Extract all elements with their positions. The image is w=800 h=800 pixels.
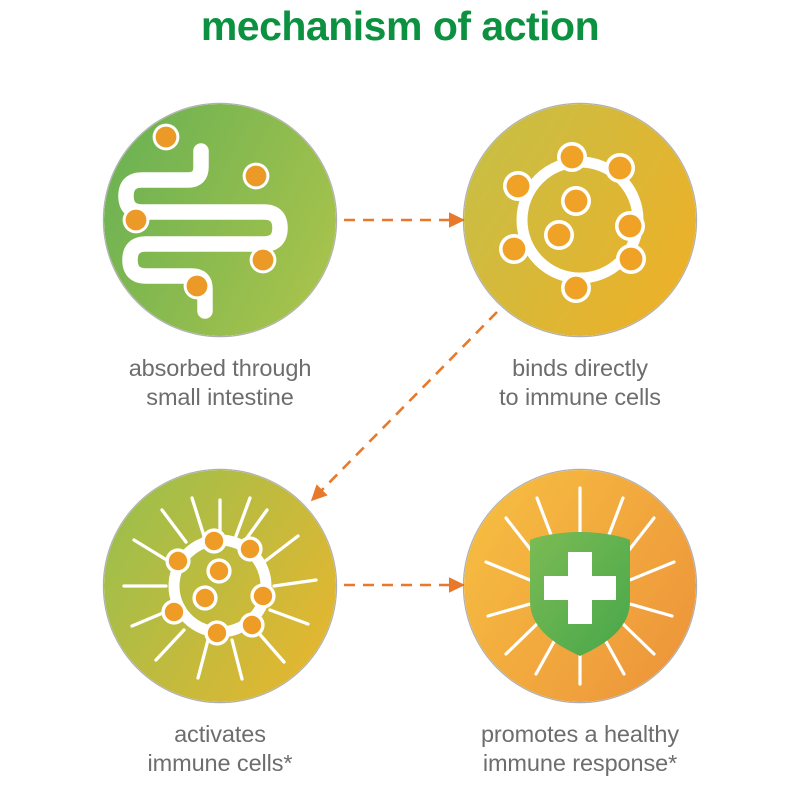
step-activation-circle	[104, 470, 336, 702]
step-immune-response-circle	[464, 470, 696, 702]
step-absorption: absorbed through small intestine	[104, 104, 336, 412]
step-activation: activates immune cells*	[104, 470, 336, 778]
step-immune-response-caption: promotes a healthy immune response*	[430, 720, 730, 778]
immune-cell-receptor-icon	[464, 104, 696, 336]
mechanism-of-action-infographic: mechanism of action	[0, 0, 800, 800]
step-binding-caption: binds directly to immune cells	[464, 354, 696, 412]
page-title: mechanism of action	[0, 0, 800, 50]
step-binding-circle	[464, 104, 696, 336]
small-intestine-icon	[104, 104, 336, 336]
step-absorption-caption: absorbed through small intestine	[104, 354, 336, 412]
activated-immune-cell-icon	[104, 470, 336, 702]
step-binding: binds directly to immune cells	[464, 104, 696, 412]
step-immune-response: promotes a healthy immune response*	[464, 470, 696, 778]
step-absorption-circle	[104, 104, 336, 336]
step-activation-caption: activates immune cells*	[104, 720, 336, 778]
shield-cross-icon	[464, 470, 696, 702]
